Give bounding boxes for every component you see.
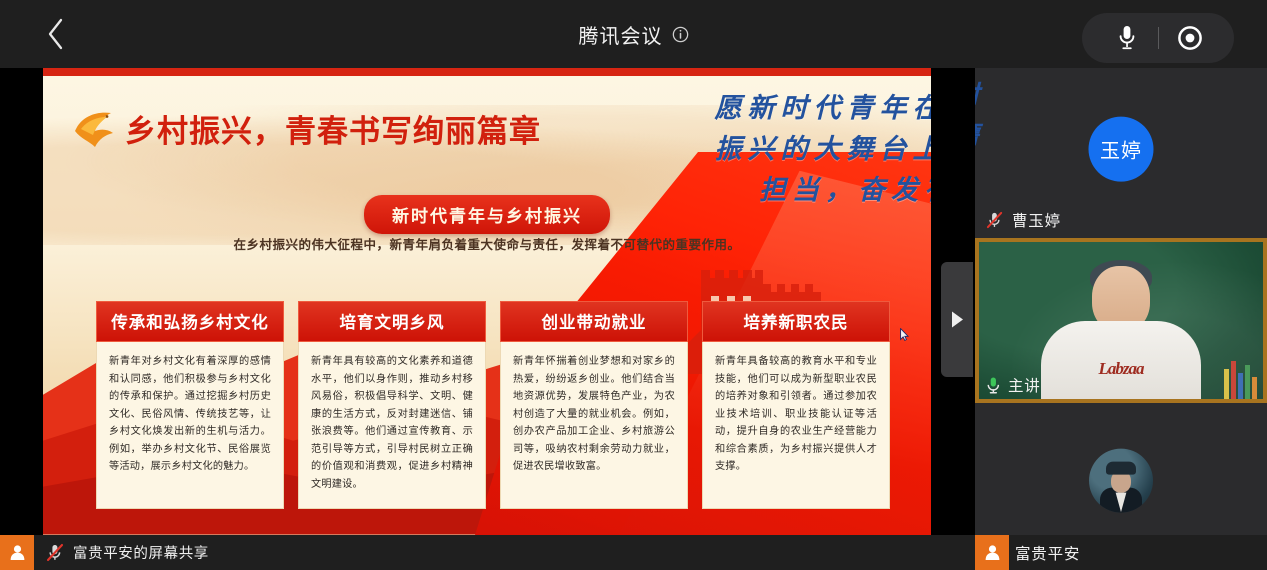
microphone-muted-icon [986,211,1005,229]
participant-name: 富贵平安 [1015,542,1080,564]
card-title: 创业带动就业 [500,301,688,342]
microphone-icon [1116,24,1138,52]
user-icon [8,543,27,562]
slide-card: 培育文明乡风 新青年具有较高的文化素养和道德水平，他们以身作则，推动乡村移风易俗… [298,301,486,509]
participant-label: 曹玉婷 [986,209,1061,231]
share-label-group: 富贵平安的屏幕共享 [34,542,209,563]
calligraphy-bleed-text: 村膺 [975,76,1023,157]
card-title: 培育文明乡风 [298,301,486,342]
share-status-bar: 富贵平安的屏幕共享 [0,535,975,570]
slide-top-accent [43,68,931,76]
card-body: 新青年对乡村文化有着深厚的感情和认同感，他们积极参与乡村文化的传承和保护。通过挖… [96,342,284,509]
slide-main-title: 乡村振兴，青春书写绚丽篇章 [125,106,541,151]
card-body: 新青年具有较高的文化素养和道德水平，他们以身作则，推动乡村移风易俗，积极倡导科学… [298,342,486,509]
card-body: 新青年怀揣着创业梦想和对家乡的热爱，纷纷返乡创业。他们结合当地资源优势，发展特色… [500,342,688,509]
slide-title-row: 乡村振兴，青春书写绚丽篇章 [71,106,541,151]
slide-subtitle: 在乡村振兴的伟大征程中，新青年肩负着重大使命与责任，发挥着不可替代的重要作用。 [233,234,740,253]
microphone-muted-icon [46,543,66,562]
dove-bird-icon [71,107,117,151]
bookshelf [1224,361,1257,399]
title-bar: 腾讯会议 [0,0,1267,68]
card-title: 传承和弘扬乡村文化 [96,301,284,342]
calligraphy-line-1: 愿新时代青年在乡村 [653,88,931,129]
calligraphy-line-3: 担当，奋发有为。 [653,170,931,211]
shirt-logo-text: Labzaa [1099,359,1144,379]
shared-screen-slide[interactable]: 乡村振兴，青春书写绚丽篇章 愿新时代青年在乡村 振兴的大舞台上挺膺 担当，奋发有… [43,68,931,535]
participant-tile-video[interactable]: Labzaa 主讲 [975,238,1267,403]
calligraphy-text: 愿新时代青年在乡村 振兴的大舞台上挺膺 担当，奋发有为。 [653,88,931,211]
info-circle-icon[interactable] [672,26,689,43]
microphone-active-icon [986,376,1001,394]
participant-tile-avatar[interactable]: 村膺 玉婷 曹玉婷 [975,68,1267,238]
participant-panel: 村膺 玉婷 曹玉婷 Labzaa [975,68,1267,570]
meeting-window: 腾讯会议 [0,0,1267,570]
expand-panel-button[interactable] [941,262,973,377]
avatar-hat [1106,461,1136,474]
slide-card: 传承和弘扬乡村文化 新青年对乡村文化有着深厚的感情和认同感，他们积极参与乡村文化… [96,301,284,509]
slide-card: 创业带动就业 新青年怀揣着创业梦想和对家乡的热爱，纷纷返乡创业。他们结合当地资源… [500,301,688,509]
participant-name: 曹玉婷 [1012,209,1061,231]
participant-bottom-bar: 富贵平安 [975,535,1267,570]
participant-label: 主讲 [986,374,1041,396]
user-orange-icon [975,535,1009,570]
avatar: 玉婷 [1089,117,1154,182]
user-orange-icon [0,535,34,570]
camera-record-icon [1177,25,1203,51]
user-icon [983,543,1002,562]
mouse-cursor-icon [900,328,909,341]
play-triangle-icon [950,310,965,329]
share-label: 富贵平安的屏幕共享 [73,542,209,563]
slide-badge: 新时代青年与乡村振兴 [364,195,610,234]
participant-name: 主讲 [1008,374,1041,396]
camera-button[interactable] [1159,13,1221,63]
card-title: 培养新职农民 [702,301,890,342]
slide-cards: 传承和弘扬乡村文化 新青年对乡村文化有着深厚的感情和认同感，他们积极参与乡村文化… [96,301,890,509]
slide-card: 培养新职农民 新青年具备较高的教育水平和专业技能，他们可以成为新型职业农民的培养… [702,301,890,509]
page-title: 腾讯会议 [579,20,663,49]
media-controls [1082,13,1234,63]
card-body: 新青年具备较高的教育水平和专业技能，他们可以成为新型职业农民的培养对象和引领者。… [702,342,890,509]
calligraphy-line-2: 振兴的大舞台上挺膺 [653,129,931,170]
title-group: 腾讯会议 [0,0,1267,68]
mic-button[interactable] [1096,13,1158,63]
avatar [1089,448,1153,512]
